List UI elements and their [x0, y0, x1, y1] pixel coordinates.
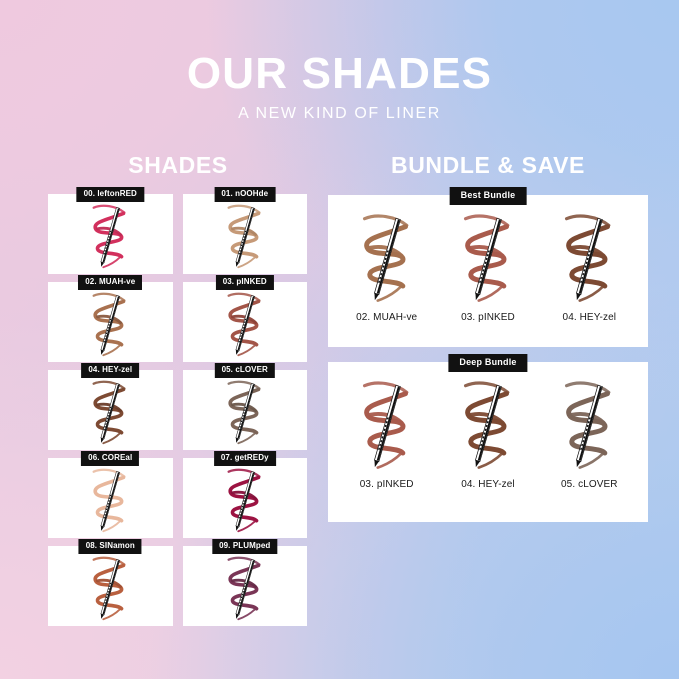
swatch-artwork [354, 209, 420, 309]
shade-name-badge: 03. pINKED [216, 275, 274, 290]
shade-swatch-card[interactable]: 07. getREDy [183, 458, 308, 538]
bundle-swatch-art [556, 376, 622, 476]
shades-section-heading: SHADES [48, 152, 308, 179]
bundle-section-heading: BUNDLE & SAVE [328, 152, 648, 179]
shade-swatch-card[interactable]: 03. pINKED [183, 282, 308, 362]
swatch-artwork [221, 201, 269, 273]
page-header: OUR SHADES A NEW KIND OF LINER [0, 52, 679, 123]
swatch-artwork [455, 376, 521, 476]
bundle-swatch-art [556, 209, 622, 309]
shade-swatch-card[interactable]: 00. leftonRED [48, 194, 173, 274]
shade-swatch-art [183, 546, 308, 626]
bundle-badge: Best Bundle [450, 187, 527, 205]
swatch-artwork [86, 377, 134, 449]
swatch-artwork [221, 289, 269, 361]
bundle-card-deep[interactable]: Deep Bundle03. pINKED04. HEY-zel05. cLOV… [328, 362, 648, 522]
swatch-artwork [86, 201, 134, 273]
swatch-artwork [455, 209, 521, 309]
shade-swatch-art [183, 370, 308, 450]
bundle-badge: Deep Bundle [448, 354, 527, 372]
bundle-item-label: 05. cLOVER [561, 479, 618, 490]
shade-swatch-art [48, 458, 173, 538]
shade-name-badge: 09. PLUMped [212, 539, 277, 554]
bundle-item-label: 04. HEY-zel [461, 479, 515, 490]
bundle-swatch-art [354, 376, 420, 476]
bundle-item-label: 03. pINKED [461, 312, 515, 323]
shade-name-badge: 08. SINamon [79, 539, 142, 554]
swatch-artwork [221, 377, 269, 449]
page-subtitle: A NEW KIND OF LINER [0, 105, 679, 123]
swatch-artwork [221, 465, 269, 537]
bundle-item-row: 03. pINKED04. HEY-zel05. cLOVER [328, 362, 648, 522]
bundle-item[interactable]: 03. pINKED [438, 209, 538, 323]
shade-swatch-card[interactable]: 01. nOOHde [183, 194, 308, 274]
swatch-artwork [86, 553, 134, 625]
bundle-item-label: 03. pINKED [360, 479, 414, 490]
bundle-item-label: 02. MUAH-ve [356, 312, 417, 323]
shade-name-badge: 01. nOOHde [214, 187, 275, 202]
shade-swatch-card[interactable]: 06. COREal [48, 458, 173, 538]
bundle-item[interactable]: 03. pINKED [337, 376, 437, 490]
shade-name-badge: 06. COREal [81, 451, 139, 466]
bundle-item-label: 04. HEY-zel [563, 312, 617, 323]
bundle-item[interactable]: 04. HEY-zel [539, 209, 639, 323]
shade-name-badge: 04. HEY-zel [81, 363, 139, 378]
shade-name-badge: 00. leftonRED [77, 187, 144, 202]
shade-swatch-card[interactable]: 08. SINamon [48, 546, 173, 626]
swatch-artwork [86, 465, 134, 537]
swatch-artwork [221, 553, 269, 625]
shade-swatch-card[interactable]: 04. HEY-zel [48, 370, 173, 450]
swatch-artwork [354, 376, 420, 476]
shade-swatch-card[interactable]: 05. cLOVER [183, 370, 308, 450]
shade-swatch-art [48, 546, 173, 626]
shade-name-badge: 05. cLOVER [215, 363, 275, 378]
shade-swatch-art [48, 370, 173, 450]
bundle-swatch-art [354, 209, 420, 309]
swatch-artwork [556, 209, 622, 309]
shade-swatch-art [48, 282, 173, 362]
swatch-artwork [556, 376, 622, 476]
bundle-card-best[interactable]: Best Bundle02. MUAH-ve03. pINKED04. HEY-… [328, 195, 648, 347]
bundle-item-row: 02. MUAH-ve03. pINKED04. HEY-zel [328, 195, 648, 347]
bundle-swatch-art [455, 376, 521, 476]
bundle-item[interactable]: 04. HEY-zel [438, 376, 538, 490]
shade-swatch-card[interactable]: 09. PLUMped [183, 546, 308, 626]
page-title: OUR SHADES [0, 52, 679, 96]
bundle-swatch-art [455, 209, 521, 309]
shade-name-badge: 07. getREDy [214, 451, 276, 466]
shade-swatch-card[interactable]: 02. MUAH-ve [48, 282, 173, 362]
bundle-item[interactable]: 02. MUAH-ve [337, 209, 437, 323]
shade-swatch-art [48, 194, 173, 274]
shades-grid: 00. leftonRED01. nOOHde02. MUAH-ve03. pI… [48, 194, 307, 626]
shade-name-badge: 02. MUAH-ve [78, 275, 142, 290]
shade-swatch-art [183, 458, 308, 538]
swatch-artwork [86, 289, 134, 361]
shade-swatch-art [183, 282, 308, 362]
shade-swatch-art [183, 194, 308, 274]
bundle-item[interactable]: 05. cLOVER [539, 376, 639, 490]
